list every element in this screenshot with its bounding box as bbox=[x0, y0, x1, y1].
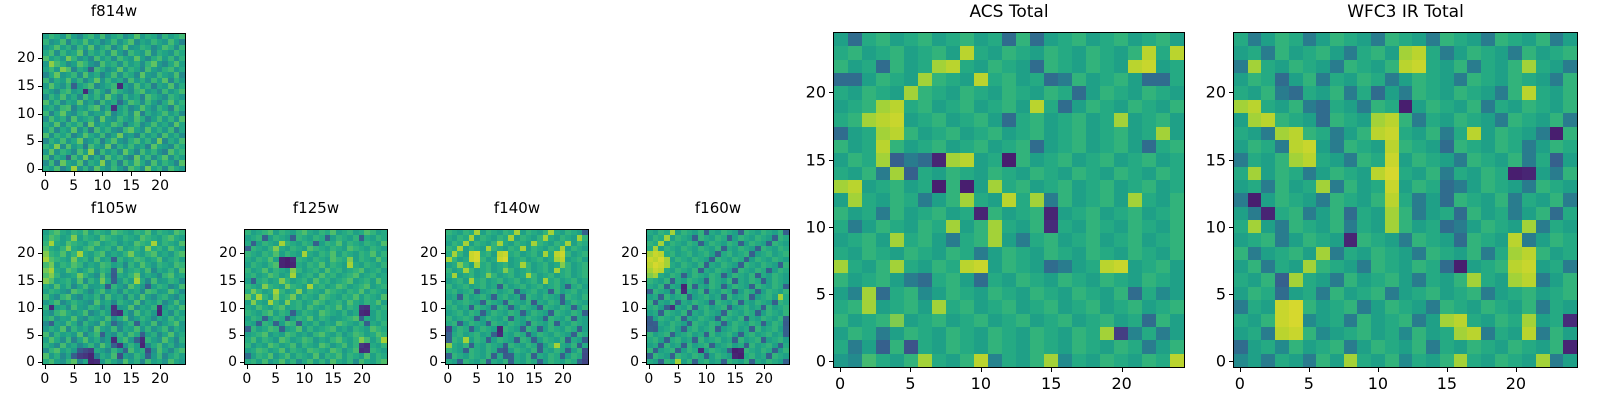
x-ticklabel-f140w-2: 10 bbox=[497, 371, 515, 387]
x-tick-wfc3_ir_total-1 bbox=[1309, 368, 1310, 372]
x-tick-wfc3_ir_total-3 bbox=[1447, 368, 1448, 372]
y-tick-f140w-4 bbox=[441, 253, 445, 254]
y-tick-f125w-4 bbox=[240, 253, 244, 254]
x-ticklabel-wfc3_ir_total-0: 0 bbox=[1235, 374, 1245, 393]
y-tick-acs_total-2 bbox=[829, 227, 833, 228]
y-ticklabel-f160w-2: 10 bbox=[606, 300, 639, 316]
y-ticklabel-f105w-3: 15 bbox=[2, 273, 35, 289]
x-ticklabel-f105w-1: 5 bbox=[69, 371, 78, 387]
y-ticklabel-acs_total-3: 15 bbox=[793, 150, 826, 169]
y-ticklabel-acs_total-0: 0 bbox=[793, 352, 826, 371]
x-tick-acs_total-2 bbox=[981, 368, 982, 372]
y-tick-f140w-1 bbox=[441, 335, 445, 336]
y-ticklabel-f125w-3: 15 bbox=[204, 273, 237, 289]
y-ticklabel-wfc3_ir_total-3: 15 bbox=[1193, 150, 1226, 169]
y-tick-acs_total-4 bbox=[829, 92, 833, 93]
x-tick-f105w-2 bbox=[102, 365, 103, 369]
x-ticklabel-f125w-2: 10 bbox=[296, 371, 314, 387]
x-ticklabel-wfc3_ir_total-2: 10 bbox=[1368, 374, 1388, 393]
x-tick-f105w-3 bbox=[131, 365, 132, 369]
y-ticklabel-f140w-2: 10 bbox=[405, 300, 438, 316]
x-ticklabel-f140w-0: 0 bbox=[443, 371, 452, 387]
heatmap-f105w[interactable] bbox=[42, 229, 186, 365]
y-ticklabel-f125w-2: 10 bbox=[204, 300, 237, 316]
y-ticklabel-f125w-4: 20 bbox=[204, 245, 237, 261]
x-ticklabel-f140w-1: 5 bbox=[472, 371, 481, 387]
panel-acs_total: ACS Total0510152005101520 bbox=[793, 0, 1225, 400]
x-tick-f140w-1 bbox=[477, 365, 478, 369]
x-tick-f140w-4 bbox=[563, 365, 564, 369]
x-tick-f140w-3 bbox=[534, 365, 535, 369]
y-tick-f140w-3 bbox=[441, 281, 445, 282]
x-tick-wfc3_ir_total-4 bbox=[1516, 368, 1517, 372]
x-tick-acs_total-0 bbox=[840, 368, 841, 372]
y-tick-f160w-3 bbox=[642, 281, 646, 282]
y-ticklabel-acs_total-1: 5 bbox=[793, 285, 826, 304]
x-tick-f140w-0 bbox=[448, 365, 449, 369]
y-tick-f140w-2 bbox=[441, 308, 445, 309]
x-ticklabel-f140w-3: 15 bbox=[525, 371, 543, 387]
y-tick-acs_total-0 bbox=[829, 361, 833, 362]
y-ticklabel-f125w-1: 5 bbox=[204, 327, 237, 343]
panel-title-f105w: f105w bbox=[42, 199, 186, 217]
y-ticklabel-wfc3_ir_total-4: 20 bbox=[1193, 83, 1226, 102]
x-tick-f160w-4 bbox=[764, 365, 765, 369]
x-tick-acs_total-1 bbox=[910, 368, 911, 372]
x-tick-f160w-1 bbox=[678, 365, 679, 369]
x-tick-f125w-3 bbox=[333, 365, 334, 369]
x-ticklabel-f125w-4: 20 bbox=[353, 371, 371, 387]
y-ticklabel-f160w-0: 0 bbox=[606, 354, 639, 370]
x-ticklabel-f160w-4: 20 bbox=[755, 371, 773, 387]
y-ticklabel-wfc3_ir_total-2: 10 bbox=[1193, 217, 1226, 236]
x-ticklabel-f160w-3: 15 bbox=[726, 371, 744, 387]
y-ticklabel-f125w-0: 0 bbox=[204, 354, 237, 370]
panel-title-wfc3_ir_total: WFC3 IR Total bbox=[1233, 2, 1578, 22]
x-ticklabel-f125w-1: 5 bbox=[271, 371, 280, 387]
y-tick-acs_total-3 bbox=[829, 160, 833, 161]
y-ticklabel-f160w-3: 15 bbox=[606, 273, 639, 289]
y-tick-f105w-1 bbox=[38, 335, 42, 336]
heatmap-wfc3_ir_total[interactable] bbox=[1233, 32, 1578, 368]
x-ticklabel-f125w-0: 0 bbox=[242, 371, 251, 387]
x-ticklabel-wfc3_ir_total-1: 5 bbox=[1304, 374, 1314, 393]
y-ticklabel-acs_total-2: 10 bbox=[793, 217, 826, 236]
y-tick-wfc3_ir_total-0 bbox=[1229, 361, 1233, 362]
y-ticklabel-wfc3_ir_total-1: 5 bbox=[1193, 285, 1226, 304]
x-ticklabel-f160w-1: 5 bbox=[673, 371, 682, 387]
heatmap-acs_total[interactable] bbox=[833, 32, 1185, 368]
y-tick-f105w-2 bbox=[38, 308, 42, 309]
x-ticklabel-wfc3_ir_total-3: 15 bbox=[1437, 374, 1457, 393]
x-tick-wfc3_ir_total-2 bbox=[1378, 368, 1379, 372]
x-ticklabel-f105w-0: 0 bbox=[40, 371, 49, 387]
panel-f125w: f125w0510152005101520 bbox=[204, 0, 428, 400]
x-tick-f105w-4 bbox=[160, 365, 161, 369]
y-tick-f160w-2 bbox=[642, 308, 646, 309]
x-tick-f125w-4 bbox=[362, 365, 363, 369]
x-tick-f160w-3 bbox=[735, 365, 736, 369]
y-ticklabel-f140w-4: 20 bbox=[405, 245, 438, 261]
x-ticklabel-f105w-2: 10 bbox=[94, 371, 112, 387]
x-ticklabel-acs_total-4: 20 bbox=[1111, 374, 1131, 393]
x-ticklabel-wfc3_ir_total-4: 20 bbox=[1506, 374, 1526, 393]
y-tick-f125w-3 bbox=[240, 281, 244, 282]
y-tick-f125w-0 bbox=[240, 362, 244, 363]
panel-f105w: f105w0510152005101520 bbox=[2, 0, 226, 400]
x-tick-f105w-0 bbox=[45, 365, 46, 369]
y-ticklabel-f105w-1: 5 bbox=[2, 327, 35, 343]
x-ticklabel-f125w-3: 15 bbox=[324, 371, 342, 387]
panel-f140w: f140w0510152005101520 bbox=[405, 0, 629, 400]
y-ticklabel-acs_total-4: 20 bbox=[793, 83, 826, 102]
matplotlib-figure: f814w0510152005101520f105w05101520051015… bbox=[0, 0, 1600, 400]
x-ticklabel-acs_total-2: 10 bbox=[971, 374, 991, 393]
x-ticklabel-acs_total-0: 0 bbox=[835, 374, 845, 393]
y-tick-f105w-4 bbox=[38, 253, 42, 254]
y-tick-wfc3_ir_total-2 bbox=[1229, 227, 1233, 228]
y-tick-f160w-0 bbox=[642, 362, 646, 363]
y-ticklabel-f140w-0: 0 bbox=[405, 354, 438, 370]
y-tick-wfc3_ir_total-4 bbox=[1229, 92, 1233, 93]
x-ticklabel-acs_total-3: 15 bbox=[1041, 374, 1061, 393]
x-tick-acs_total-4 bbox=[1122, 368, 1123, 372]
y-ticklabel-f140w-3: 15 bbox=[405, 273, 438, 289]
y-ticklabel-f160w-1: 5 bbox=[606, 327, 639, 343]
y-tick-wfc3_ir_total-3 bbox=[1229, 160, 1233, 161]
y-tick-acs_total-1 bbox=[829, 294, 833, 295]
x-tick-f125w-0 bbox=[247, 365, 248, 369]
heatmap-f160w[interactable] bbox=[646, 229, 790, 365]
panel-title-acs_total: ACS Total bbox=[833, 2, 1185, 22]
y-ticklabel-f160w-4: 20 bbox=[606, 245, 639, 261]
panel-wfc3_ir_total: WFC3 IR Total0510152005101520 bbox=[1193, 0, 1600, 400]
x-tick-f125w-2 bbox=[304, 365, 305, 369]
y-ticklabel-f105w-4: 20 bbox=[2, 245, 35, 261]
x-tick-f160w-2 bbox=[706, 365, 707, 369]
x-ticklabel-f160w-2: 10 bbox=[698, 371, 716, 387]
y-tick-f125w-1 bbox=[240, 335, 244, 336]
x-tick-wfc3_ir_total-0 bbox=[1240, 368, 1241, 372]
x-tick-f160w-0 bbox=[649, 365, 650, 369]
x-tick-acs_total-3 bbox=[1051, 368, 1052, 372]
y-tick-f105w-0 bbox=[38, 362, 42, 363]
panel-title-f160w: f160w bbox=[646, 199, 790, 217]
x-ticklabel-f105w-4: 20 bbox=[151, 371, 169, 387]
y-tick-f160w-4 bbox=[642, 253, 646, 254]
heatmap-f140w[interactable] bbox=[445, 229, 589, 365]
x-ticklabel-acs_total-1: 5 bbox=[905, 374, 915, 393]
y-tick-f105w-3 bbox=[38, 281, 42, 282]
x-tick-f140w-2 bbox=[505, 365, 506, 369]
y-tick-wfc3_ir_total-1 bbox=[1229, 294, 1233, 295]
y-ticklabel-f105w-2: 10 bbox=[2, 300, 35, 316]
y-ticklabel-wfc3_ir_total-0: 0 bbox=[1193, 352, 1226, 371]
heatmap-f125w[interactable] bbox=[244, 229, 388, 365]
panel-title-f140w: f140w bbox=[445, 199, 589, 217]
y-ticklabel-f140w-1: 5 bbox=[405, 327, 438, 343]
panel-title-f125w: f125w bbox=[244, 199, 388, 217]
x-ticklabel-f105w-3: 15 bbox=[122, 371, 140, 387]
x-ticklabel-f140w-4: 20 bbox=[554, 371, 572, 387]
y-ticklabel-f105w-0: 0 bbox=[2, 354, 35, 370]
x-tick-f105w-1 bbox=[74, 365, 75, 369]
x-ticklabel-f160w-0: 0 bbox=[644, 371, 653, 387]
y-tick-f160w-1 bbox=[642, 335, 646, 336]
y-tick-f140w-0 bbox=[441, 362, 445, 363]
y-tick-f125w-2 bbox=[240, 308, 244, 309]
x-tick-f125w-1 bbox=[276, 365, 277, 369]
